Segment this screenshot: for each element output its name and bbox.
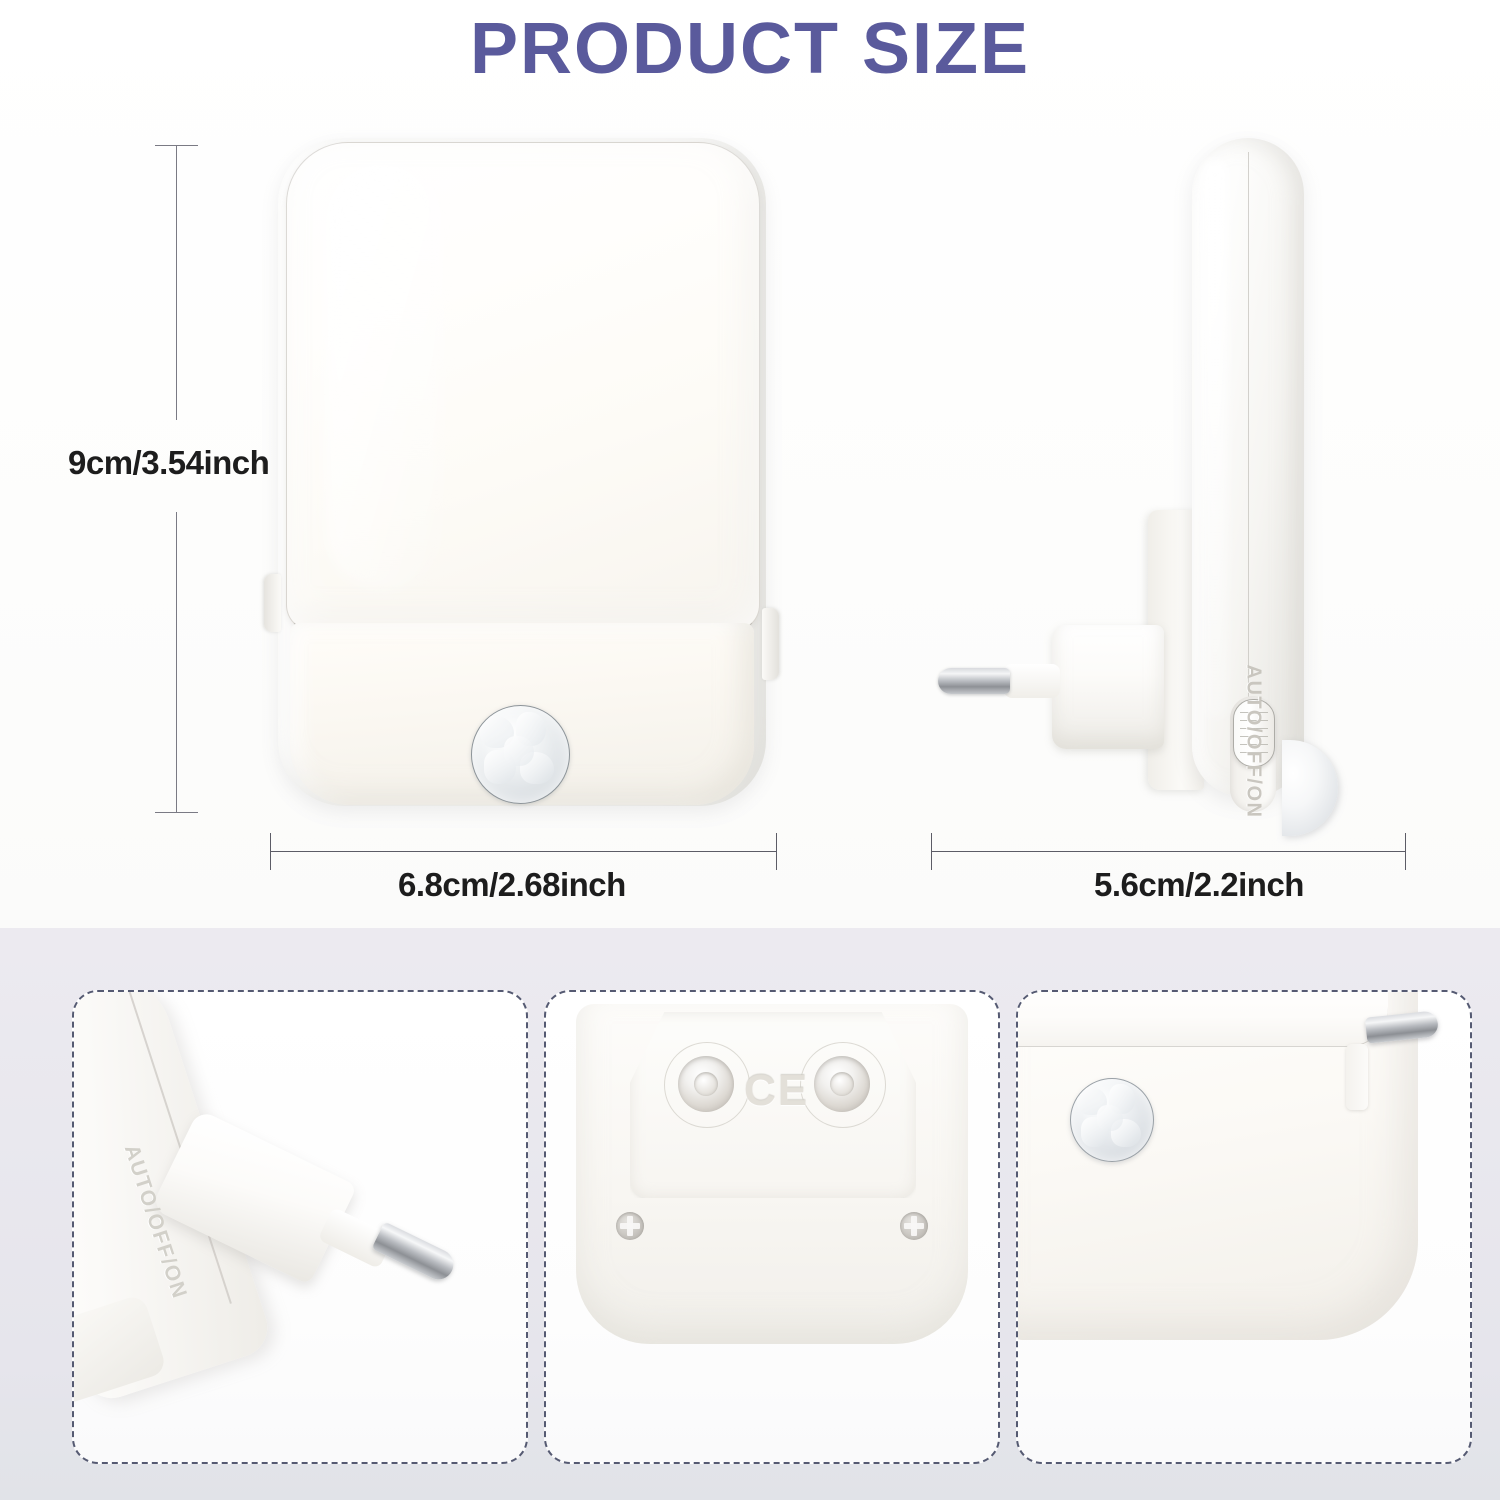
pir-motion-sensor-closeup-icon <box>1070 1078 1154 1162</box>
detail-photos-section: AUTO/OFF/ON CE <box>0 928 1500 1500</box>
light-diffuser-panel <box>286 142 760 631</box>
pin-socket-right <box>814 1056 870 1112</box>
housing-tab-detail <box>1346 1044 1368 1110</box>
eu-plug-pin <box>938 668 1010 694</box>
phillips-screw-left <box>616 1212 644 1240</box>
height-dimension-line-lower <box>176 512 177 812</box>
depth-dimension-cap-right <box>1405 833 1406 870</box>
plug-neck <box>1004 664 1060 698</box>
width-dimension-line <box>270 851 776 852</box>
night-light-back-body: CE <box>576 1004 968 1344</box>
product-size-section: PRODUCT SIZE <box>0 0 1500 928</box>
front-view-illustration <box>262 136 782 811</box>
diffuser-gloss-highlight <box>325 161 445 591</box>
height-dimension-line-upper <box>176 145 177 420</box>
eu-plug-pin-detail <box>372 1222 459 1285</box>
pir-motion-sensor-icon <box>471 705 570 804</box>
page-title: PRODUCT SIZE <box>0 8 1500 90</box>
width-dimension-cap-right <box>776 833 777 870</box>
phillips-screw-right <box>900 1212 928 1240</box>
width-dimension-label: 6.8cm/2.68inch <box>398 866 626 904</box>
pin-socket-left <box>678 1056 734 1112</box>
depth-dimension-label: 5.6cm/2.2inch <box>1094 866 1304 904</box>
detail-panel-back-face[interactable]: CE <box>544 990 1000 1464</box>
side-gloss-highlight <box>1202 160 1228 720</box>
housing-tab-right <box>762 608 779 680</box>
depth-dimension-line <box>931 851 1405 852</box>
detail-panel-sensor[interactable] <box>1016 990 1472 1464</box>
switch-mode-label: AUTO/OFF/ON <box>1242 652 1265 832</box>
side-view-illustration: AUTO/OFF/ON <box>930 130 1410 810</box>
diffuser-edge <box>1016 990 1388 1047</box>
height-dimension-cap-bottom <box>155 812 198 813</box>
housing-tab-left <box>264 574 281 632</box>
plug-barrel <box>1052 625 1164 749</box>
height-dimension-label: 9cm/3.54inch <box>68 444 269 482</box>
ce-marking-icon: CE <box>744 1066 809 1116</box>
detail-panel-plug[interactable]: AUTO/OFF/ON <box>72 990 528 1464</box>
pir-sensor-bulge <box>1282 740 1338 836</box>
